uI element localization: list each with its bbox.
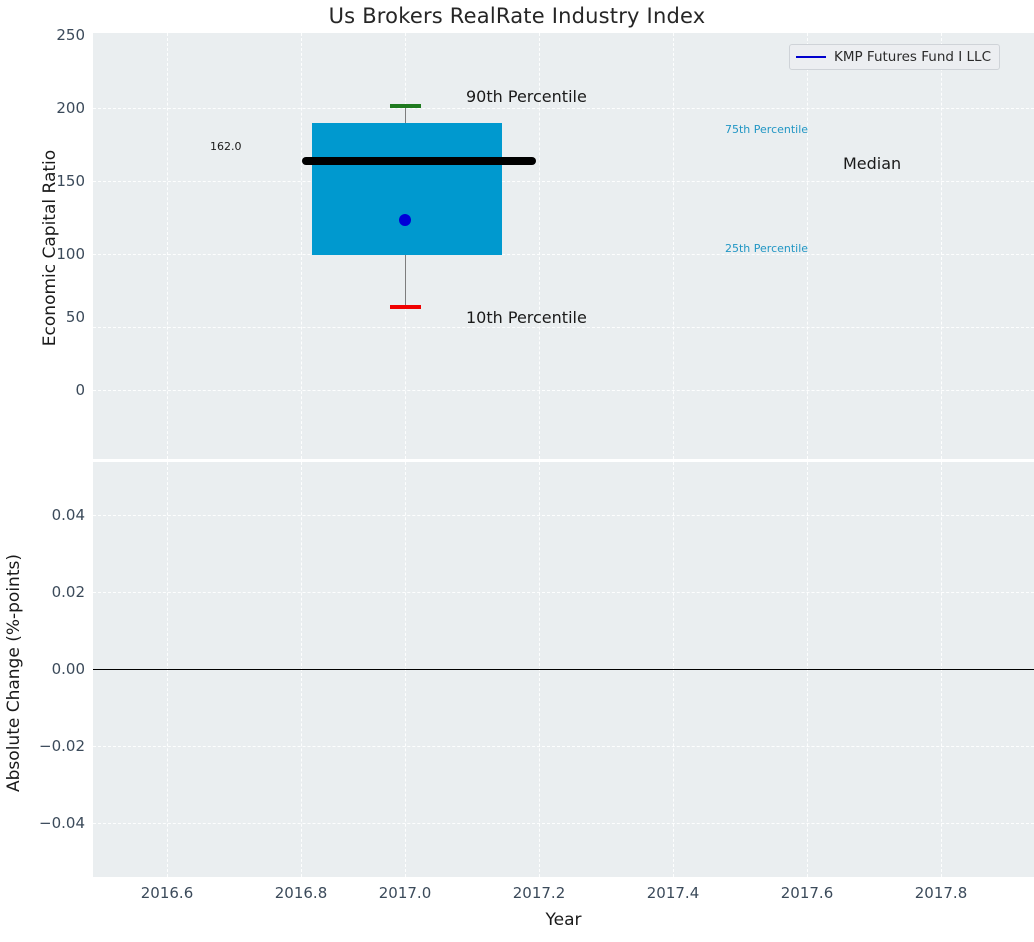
plot-area-absolute-change (93, 462, 1034, 877)
chart-title: Us Brokers RealRate Industry Index (0, 4, 1034, 28)
p10-annotation: 10th Percentile (466, 308, 587, 327)
gridline-y-200 (93, 108, 1034, 109)
gridline-y-150 (93, 181, 1034, 182)
gridline-x-2016-8 (301, 33, 302, 459)
chart-legend[interactable]: KMP Futures Fund I LLC (789, 44, 1000, 70)
xtick-2017-6: 2017.6 (781, 884, 834, 902)
median-line (302, 157, 536, 165)
y-axis-label-top: Economic Capital Ratio (40, 98, 60, 398)
plot-area-economic-capital-ratio: 162.0 90th Percentile 75th Percentile Me… (93, 33, 1034, 459)
ytick-0-04: 0.04 (1, 506, 85, 524)
gridline-y-100 (93, 254, 1034, 255)
gridline-y-neg-0-04 (93, 823, 1034, 824)
median-value-label: 162.0 (210, 140, 242, 153)
legend-entry-label: KMP Futures Fund I LLC (834, 49, 991, 65)
xtick-2017-4: 2017.4 (647, 884, 700, 902)
series-marker-kmp-futures-fund-i-llc[interactable] (399, 214, 411, 226)
zero-reference-line (93, 669, 1034, 670)
p75-annotation: 75th Percentile (725, 123, 808, 136)
ytick-250: 250 (1, 26, 85, 44)
p25-annotation: 25th Percentile (725, 242, 808, 255)
xtick-2017-2: 2017.2 (513, 884, 566, 902)
xtick-2016-8: 2016.8 (275, 884, 328, 902)
whisker-cap-p10 (390, 305, 421, 309)
gridline-x-2017-4 (673, 33, 674, 459)
chart-figure: Us Brokers RealRate Industry Index 162.0… (0, 0, 1034, 942)
y-axis-label-bottom: Absolute Change (%-points) (4, 523, 24, 823)
gridline-y-0-02 (93, 592, 1034, 593)
whisker-cap-p90 (390, 104, 421, 108)
gridline-y-50 (93, 327, 1034, 328)
gridline-x-2016-6 (167, 33, 168, 459)
gridline-x-2017-8 (941, 33, 942, 459)
median-annotation: Median (843, 154, 901, 173)
x-axis-label: Year (93, 910, 1034, 930)
gridline-y-0-04 (93, 515, 1034, 516)
xtick-2017-0: 2017.0 (379, 884, 432, 902)
gridline-y-neg-0-02 (93, 746, 1034, 747)
legend-line-swatch-icon (796, 56, 826, 58)
box-interquartile-range (312, 123, 502, 255)
xtick-2017-8: 2017.8 (915, 884, 968, 902)
xtick-2016-6: 2016.6 (141, 884, 194, 902)
p90-annotation: 90th Percentile (466, 87, 587, 106)
gridline-y-0 (93, 390, 1034, 391)
